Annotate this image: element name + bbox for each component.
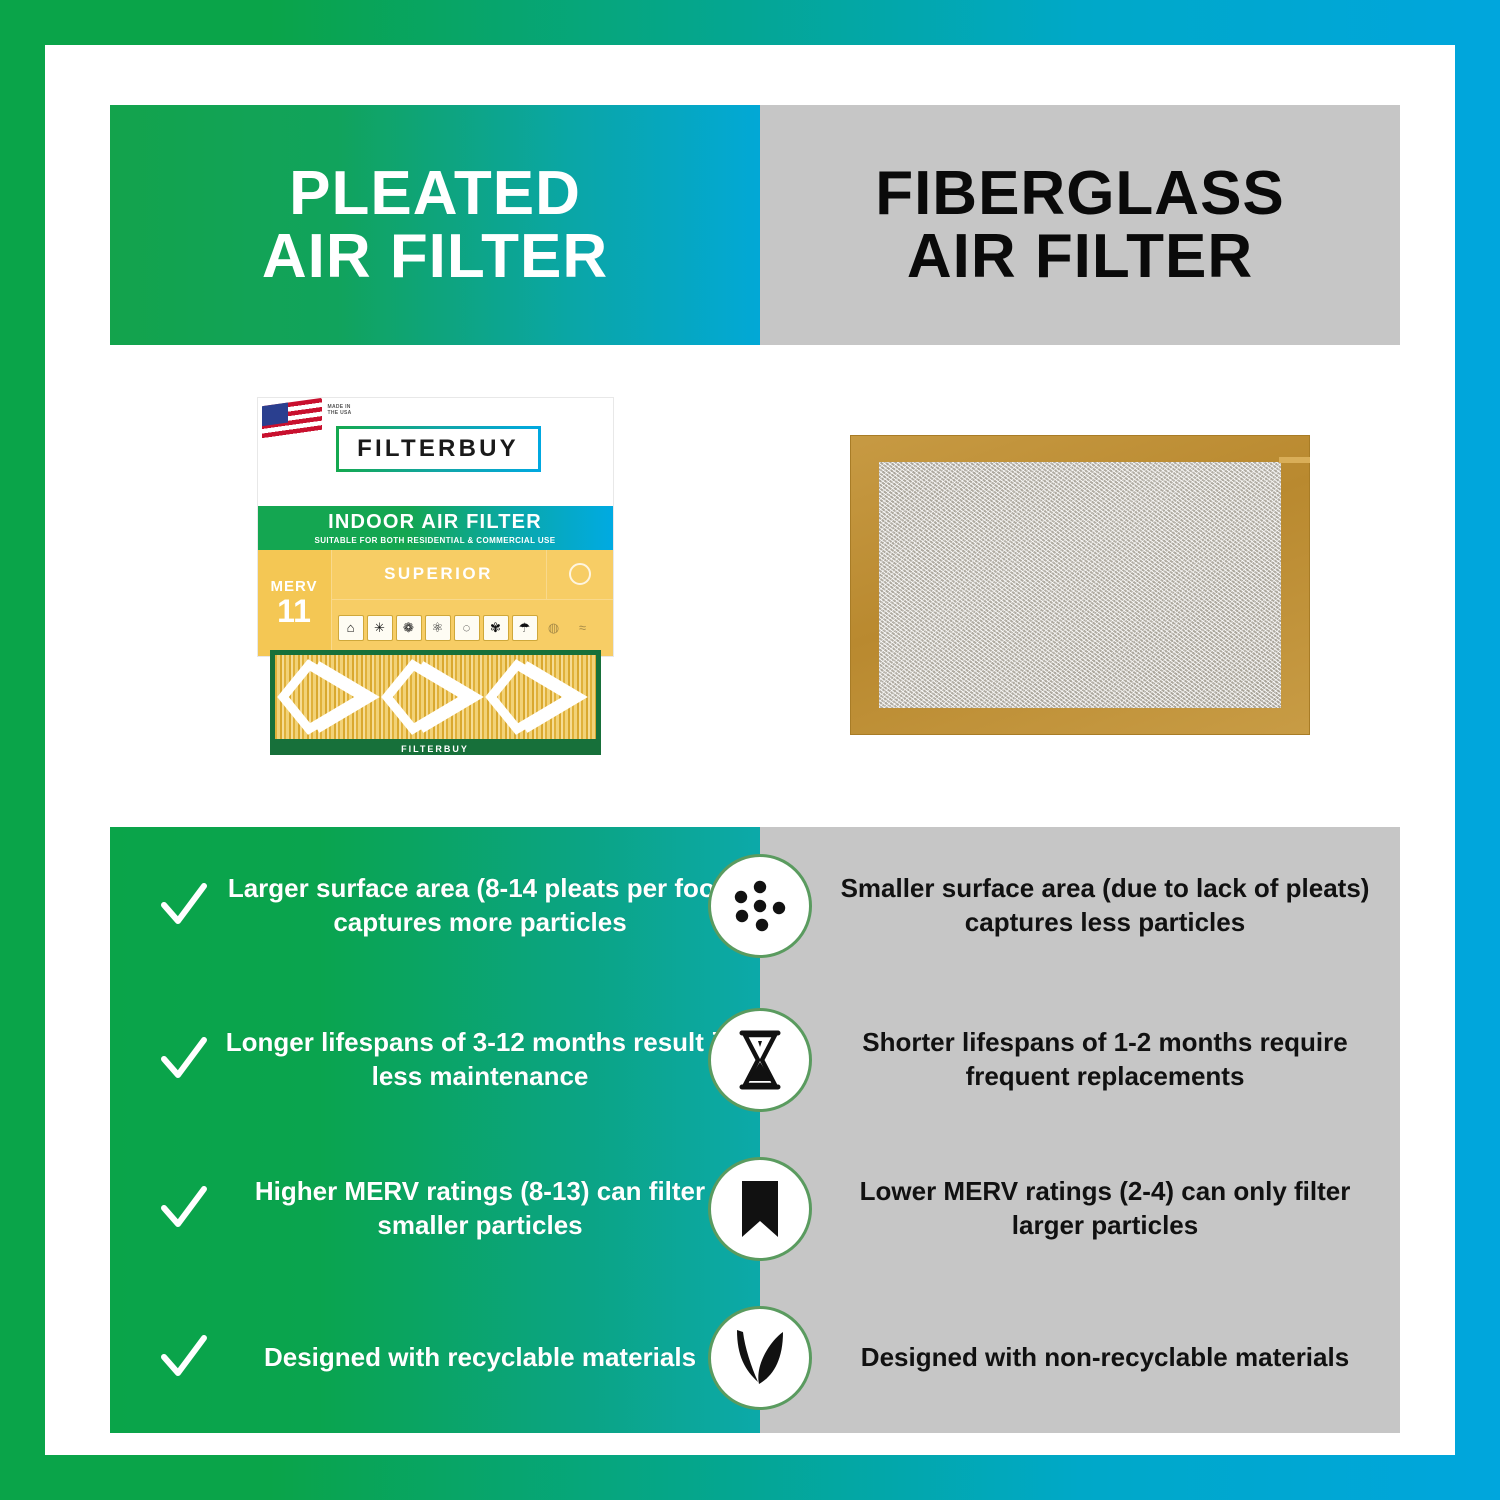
- row-right-cell: Shorter lifespans of 1-2 months require …: [760, 985, 1400, 1135]
- pleated-media-frame: FILTERBUY: [270, 650, 601, 755]
- row-right-cell: Smaller surface area (due to lack of ple…: [760, 827, 1400, 985]
- infographic-card: PLEATED AIR FILTER FIBERGLASS AIR FILTER…: [45, 45, 1455, 1455]
- row-right-cell: Designed with non-recyclable materials: [760, 1283, 1400, 1433]
- checkmark-icon: [148, 1332, 220, 1384]
- checkmark-icon: [148, 1183, 220, 1235]
- merv-badge: MERV 11: [258, 550, 332, 656]
- row-left-text: Larger surface area (8-14 pleats per foo…: [220, 872, 740, 940]
- header-fiberglass: FIBERGLASS AIR FILTER: [760, 105, 1400, 345]
- filterbuy-logo: FILTERBUY: [336, 426, 541, 472]
- header-row: PLEATED AIR FILTER FIBERGLASS AIR FILTER: [110, 105, 1400, 345]
- comparison-row: Larger surface area (8-14 pleats per foo…: [110, 827, 1400, 985]
- row-left-text: Higher MERV ratings (8-13) can filter sm…: [220, 1175, 740, 1243]
- comparison-row: Designed with recyclable materials Desig…: [110, 1283, 1400, 1433]
- row-right-cell: Lower MERV ratings (2-4) can only filter…: [760, 1135, 1400, 1283]
- row-right-text: Smaller surface area (due to lack of ple…: [840, 872, 1370, 940]
- leaf-icon: [708, 1306, 812, 1410]
- box-band-title: INDOOR AIR FILTER: [328, 511, 542, 534]
- hourglass-icon: [708, 1008, 812, 1112]
- product-cell-fiberglass: [760, 345, 1400, 825]
- particles-icon: [708, 854, 812, 958]
- fumes-icon-faded: ≈: [570, 615, 596, 641]
- row-left-cell: Longer lifespans of 3-12 months result i…: [110, 985, 760, 1135]
- header-fiberglass-title: FIBERGLASS AIR FILTER: [875, 162, 1285, 288]
- ribbon-icon: [708, 1157, 812, 1261]
- header-pleated: PLEATED AIR FILTER: [110, 105, 760, 345]
- pleated-filter-box: MADE IN THE USA FILTERBUY INDOOR AIR FIL…: [258, 398, 613, 656]
- merv-value: 11: [277, 595, 311, 627]
- row-right-text: Shorter lifespans of 1-2 months require …: [840, 1026, 1370, 1094]
- row-left-text: Longer lifespans of 3-12 months result i…: [220, 1026, 740, 1094]
- row-left-cell: Designed with recyclable materials: [110, 1283, 760, 1433]
- row-left-cell: Higher MERV ratings (8-13) can filter sm…: [110, 1135, 760, 1283]
- ul-listed-icon: [547, 550, 613, 600]
- product-tier-label: SUPERIOR: [332, 550, 547, 600]
- pill-icon-faded: ◍: [541, 615, 567, 641]
- dust-icon: ⌂: [338, 615, 364, 641]
- support-wire-icon: [275, 655, 596, 739]
- product-cell-pleated: MADE IN THE USA FILTERBUY INDOOR AIR FIL…: [110, 345, 760, 825]
- row-left-cell: Larger surface area (8-14 pleats per foo…: [110, 827, 760, 985]
- mold-icon: ❁: [396, 615, 422, 641]
- checkmark-icon: [148, 880, 220, 932]
- box-indoor-band: INDOOR AIR FILTER SUITABLE FOR BOTH RESI…: [258, 506, 613, 550]
- header-pleated-title: PLEATED AIR FILTER: [262, 162, 608, 288]
- virus-icon: ◌: [454, 615, 480, 641]
- comparison-section: Larger surface area (8-14 pleats per foo…: [110, 827, 1400, 1433]
- row-right-text: Lower MERV ratings (2-4) can only filter…: [840, 1175, 1370, 1243]
- filter-frame-brand: FILTERBUY: [270, 744, 601, 754]
- filterbuy-logo-text: FILTERBUY: [357, 435, 519, 463]
- product-image-row: MADE IN THE USA FILTERBUY INDOOR AIR FIL…: [110, 345, 1400, 825]
- box-band-subtitle: SUITABLE FOR BOTH RESIDENTIAL & COMMERCI…: [314, 536, 555, 545]
- pet-dander-icon: ✾: [483, 615, 509, 641]
- comparison-row: Longer lifespans of 3-12 months result i…: [110, 985, 1400, 1135]
- smoke-icon: ☂: [512, 615, 538, 641]
- fiberglass-filter-image: [850, 435, 1310, 735]
- checkmark-icon: [148, 1034, 220, 1086]
- feature-icon-strip: ⌂ ✳ ❁ ⚛ ◌ ✾ ☂ ◍ ≈: [338, 604, 608, 652]
- pleated-filter-image: MADE IN THE USA FILTERBUY INDOOR AIR FIL…: [258, 398, 613, 773]
- comparison-row: Higher MERV ratings (8-13) can filter sm…: [110, 1135, 1400, 1283]
- fiberglass-media: [879, 462, 1281, 708]
- bacteria-icon: ⚛: [425, 615, 451, 641]
- pollen-icon: ✳: [367, 615, 393, 641]
- pleated-media: [275, 655, 596, 739]
- made-in-usa-label: MADE IN THE USA: [328, 404, 352, 417]
- usa-flag-icon: [262, 398, 322, 444]
- box-gold-area: MERV 11 SUPERIOR ⌂ ✳ ❁ ⚛ ◌ ✾ ☂: [258, 550, 613, 656]
- row-right-text: Designed with non-recyclable materials: [840, 1341, 1370, 1375]
- row-left-text: Designed with recyclable materials: [220, 1341, 740, 1375]
- cardboard-seam: [1279, 457, 1310, 463]
